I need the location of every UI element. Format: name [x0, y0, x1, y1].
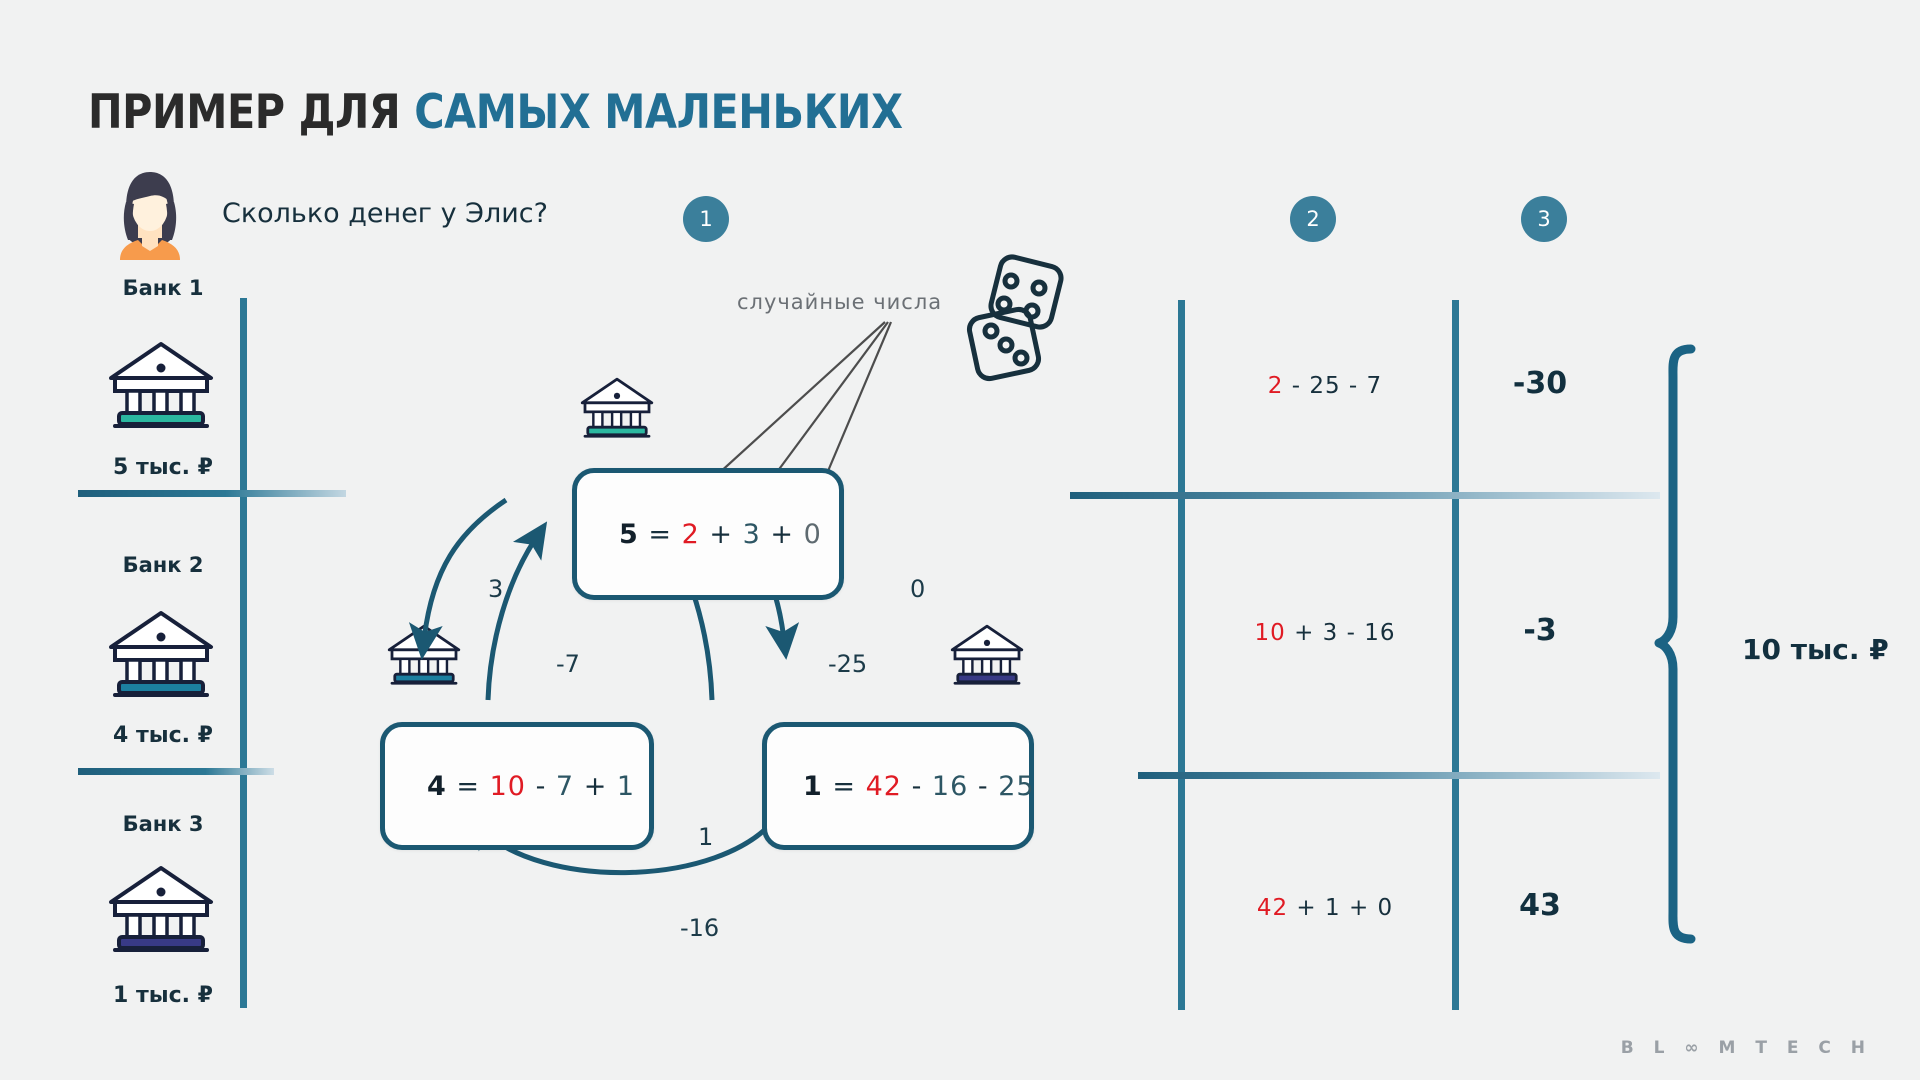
table-row-divider-1: [1070, 492, 1660, 499]
bank-2-divider: [78, 768, 274, 775]
bank-3-label: Банк 3: [68, 812, 258, 836]
bank-2-amount: 4 тыс. ₽: [63, 723, 263, 748]
equation-left-equals: =: [456, 771, 480, 802]
table-row-3-expression: 42 + 1 + 0: [1180, 895, 1470, 921]
equation-left-term-2: 7: [556, 771, 574, 802]
table-row-divider-2: [1138, 772, 1660, 779]
equation-left-result: 4: [427, 771, 447, 802]
bank-3-icon: [105, 862, 217, 954]
table-row-3-sum: 43: [1450, 888, 1630, 923]
equation-right-equals: =: [832, 771, 856, 802]
table-row-3-expr-red: 42: [1257, 895, 1288, 921]
table-row-1-expression: 2 - 25 - 7: [1180, 373, 1470, 399]
bank-2-icon: [105, 607, 217, 699]
bank-1-amount: 5 тыс. ₽: [63, 455, 263, 480]
equation-left-op-3: +: [584, 771, 608, 802]
equation-left: 4 = 10 - 7 + 1: [427, 771, 635, 802]
equation-left-term-3: 1: [617, 771, 635, 802]
dice-icon-group: [965, 255, 1075, 385]
equation-top-equals: =: [648, 519, 672, 550]
equation-right-term-2: 16: [932, 771, 968, 802]
equation-right-op-3: -: [978, 771, 989, 802]
page-title-part1: ПРИМЕР ДЛЯ: [88, 85, 400, 140]
alice-avatar: [112, 168, 188, 260]
table-row-1-sum: -30: [1450, 366, 1630, 401]
slide-canvas: ПРИМЕР ДЛЯ САМЫХ МАЛЕНЬКИХ Сколько денег…: [0, 0, 1920, 1080]
equation-left-op-2: -: [536, 771, 547, 802]
left-column-vertical-rule: [240, 298, 247, 1008]
bloomtech-logo: B L ∞ M T E C H: [1621, 1038, 1872, 1058]
equation-left-term-1: 10: [490, 771, 526, 802]
total-amount-label: 10 тыс. ₽: [1742, 633, 1889, 666]
table-row-2-expr-red: 10: [1255, 620, 1286, 646]
bank-2-label: Банк 2: [68, 553, 258, 577]
edge-label-right-to-top: -25: [828, 650, 867, 678]
edge-label-left-to-right: 1: [698, 823, 713, 851]
equation-right: 1 = 42 - 16 - 25: [803, 771, 1035, 802]
equation-top-op-3: +: [770, 519, 794, 550]
equation-top-result: 5: [619, 519, 639, 550]
page-title-part2: САМЫХ МАЛЕНЬКИХ: [414, 85, 902, 140]
equation-box-top[interactable]: 5 = 2 + 3 + 0: [572, 468, 844, 600]
edge-label-left-to-top: -7: [556, 650, 580, 678]
bank-3-amount: 1 тыс. ₽: [63, 983, 263, 1008]
question-text: Сколько денег у Элис?: [222, 198, 548, 229]
table-row-1-expr-rest: - 25 - 7: [1283, 373, 1382, 399]
equation-box-left[interactable]: 4 = 10 - 7 + 1: [380, 722, 654, 850]
table-row-1-expr-red: 2: [1268, 373, 1284, 399]
equation-right-result: 1: [803, 771, 823, 802]
bank-1-divider: [78, 490, 346, 497]
equation-top-term-1: 2: [682, 519, 700, 550]
step-badge-1[interactable]: 1: [683, 196, 729, 242]
bank-1-label: Банк 1: [68, 276, 258, 300]
equation-top: 5 = 2 + 3 + 0: [619, 519, 822, 550]
table-row-3-expr-rest: + 1 + 0: [1288, 895, 1393, 921]
page-title: ПРИМЕР ДЛЯ САМЫХ МАЛЕНЬКИХ: [88, 85, 903, 140]
equation-right-op-2: -: [912, 771, 923, 802]
table-row-2-sum: -3: [1450, 613, 1630, 648]
edge-label-top-to-left: 3: [488, 575, 503, 603]
edge-label-top-to-right: 0: [910, 575, 925, 603]
equation-top-term-2: 3: [743, 519, 761, 550]
equation-top-term-3: 0: [804, 519, 822, 550]
step-badge-3[interactable]: 3: [1521, 196, 1567, 242]
diagram-bank-icon-top: [578, 375, 656, 439]
table-row-2-expr-rest: + 3 - 16: [1286, 620, 1396, 646]
equation-right-term-3: 25: [998, 771, 1034, 802]
total-brace: [1655, 345, 1725, 945]
edge-label-right-to-left: -16: [680, 914, 719, 942]
equation-top-op-2: +: [709, 519, 733, 550]
equation-right-term-1: 42: [866, 771, 902, 802]
step-badge-2[interactable]: 2: [1290, 196, 1336, 242]
table-row-2-expression: 10 + 3 - 16: [1180, 620, 1470, 646]
bank-1-icon: [105, 338, 217, 430]
equation-box-right[interactable]: 1 = 42 - 16 - 25: [762, 722, 1034, 850]
